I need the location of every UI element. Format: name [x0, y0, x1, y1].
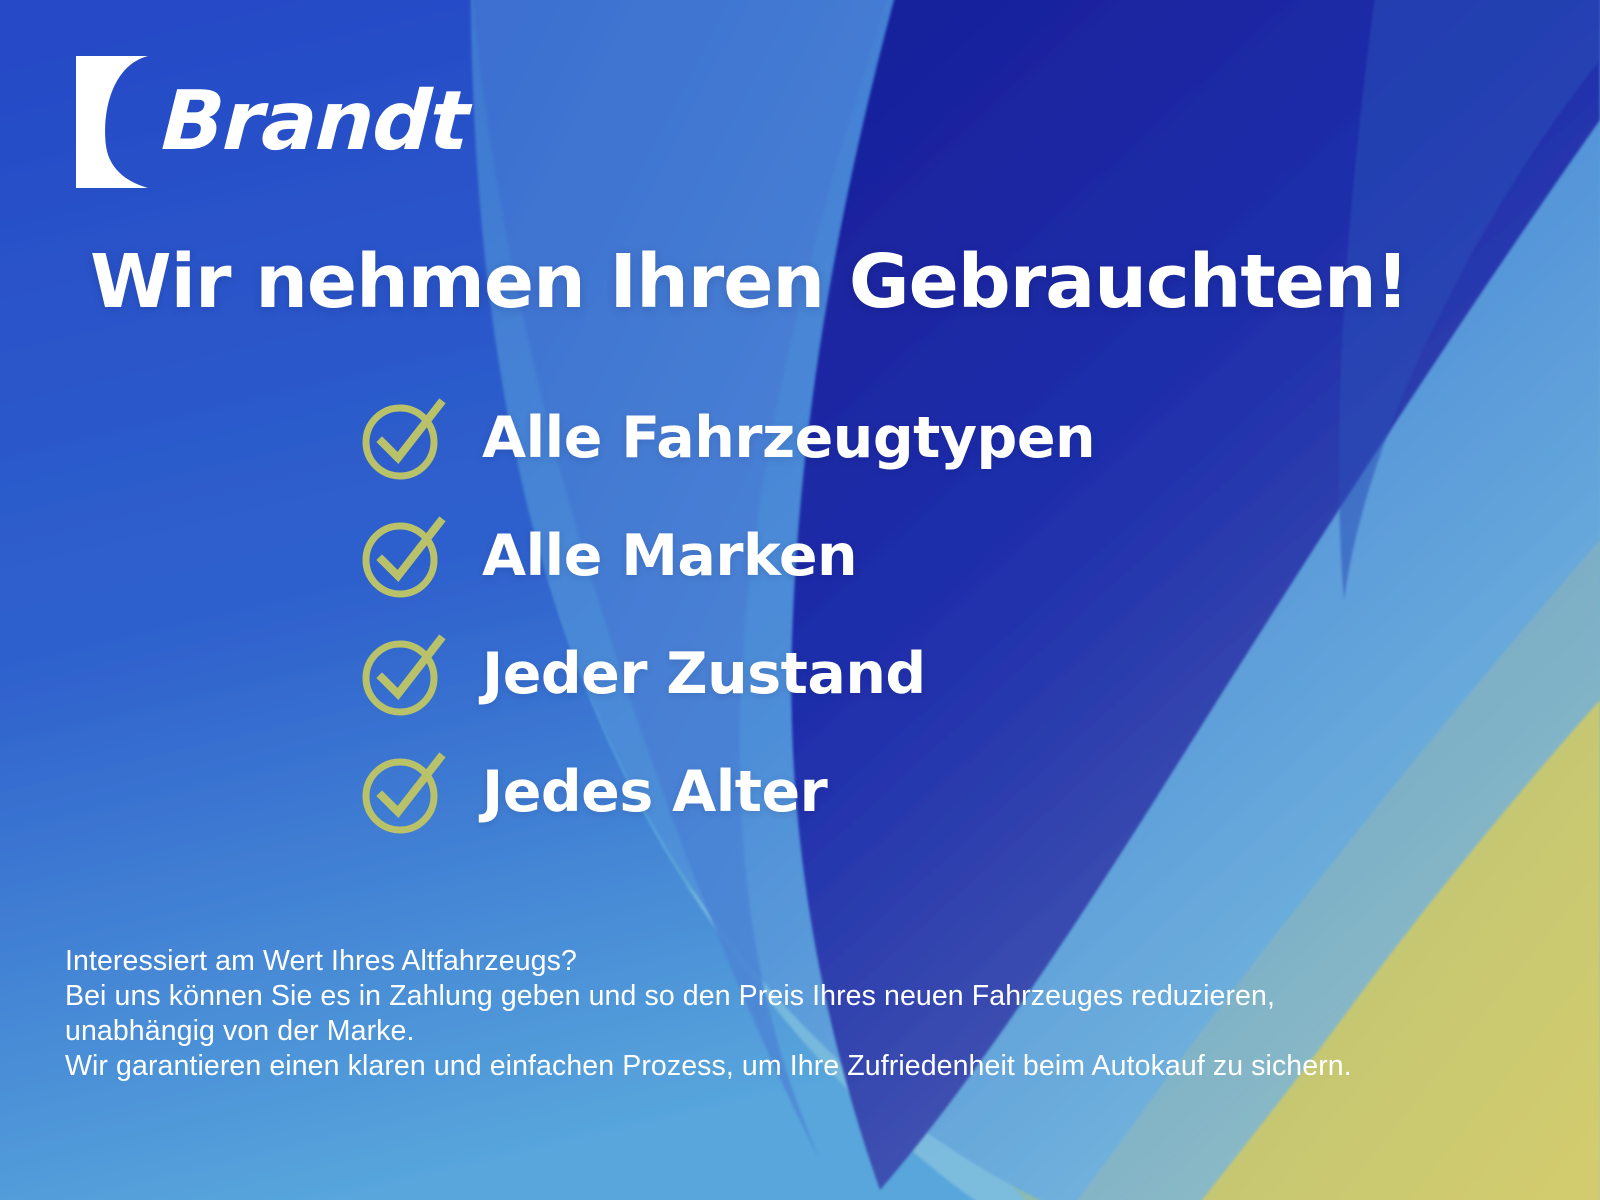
- list-item: Alle Marken: [356, 510, 1095, 602]
- body-copy: Interessiert am Wert Ihres Altfahrzeugs?…: [65, 944, 1352, 1084]
- brand-name: Brandt: [160, 81, 470, 163]
- feature-label: Alle Marken: [482, 528, 857, 585]
- bracket-crescent-mark-icon: [76, 56, 148, 188]
- page-title: Wir nehmen Ihren Gebrauchten!: [90, 243, 1408, 323]
- promotional-poster: Brandt Wir nehmen Ihren Gebrauchten! All…: [0, 0, 1600, 1200]
- body-copy-line: unabhängig von der Marke.: [65, 1014, 1352, 1049]
- list-item: Alle Fahrzeugtypen: [356, 392, 1095, 484]
- check-circle-icon: [356, 510, 448, 602]
- check-circle-icon: [356, 746, 448, 838]
- check-circle-icon: [356, 392, 448, 484]
- list-item: Jedes Alter: [356, 746, 1095, 838]
- feature-list: Alle Fahrzeugtypen Alle Marken Jeder Zus…: [356, 392, 1095, 838]
- poster-content: Brandt Wir nehmen Ihren Gebrauchten! All…: [0, 0, 1600, 1200]
- list-item: Jeder Zustand: [356, 628, 1095, 720]
- feature-label: Jeder Zustand: [482, 646, 926, 703]
- body-copy-line: Interessiert am Wert Ihres Altfahrzeugs?: [65, 944, 1352, 979]
- body-copy-line: Wir garantieren einen klaren und einfach…: [65, 1049, 1352, 1084]
- body-copy-line: Bei uns können Sie es in Zahlung geben u…: [65, 979, 1352, 1014]
- check-circle-icon: [356, 628, 448, 720]
- feature-label: Alle Fahrzeugtypen: [482, 410, 1095, 467]
- brand-logo: Brandt: [76, 56, 468, 188]
- feature-label: Jedes Alter: [482, 764, 827, 821]
